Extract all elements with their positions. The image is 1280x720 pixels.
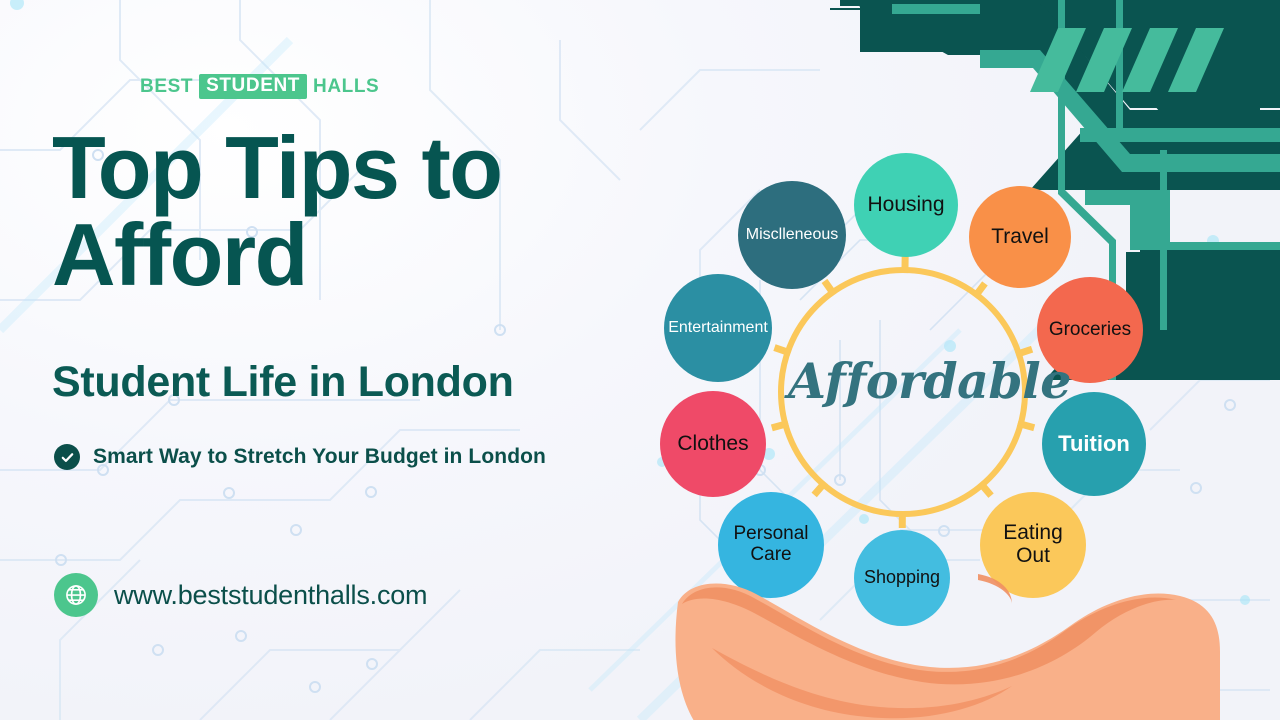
ring-spoke: [1018, 423, 1034, 427]
bubble-label: Eating Out: [984, 522, 1082, 567]
subheadline: Student Life in London: [52, 358, 514, 407]
bubble-label: Shopping: [864, 568, 940, 587]
left-content-column: BEST STUDENT HALLS Top Tips to Afford St…: [0, 0, 660, 720]
website-url[interactable]: www.beststudenthalls.com: [114, 580, 427, 611]
headline-line-2: Afford: [52, 211, 652, 298]
logo-word-halls: HALLS: [313, 76, 379, 98]
ring-spoke: [975, 283, 985, 297]
center-label: Affordable: [788, 352, 1048, 410]
bullet-point: Smart Way to Stretch Your Budget in Lond…: [54, 444, 546, 470]
logo-word-best: BEST: [140, 76, 193, 98]
headline-line-1: Top Tips to: [52, 124, 652, 211]
globe-icon: [54, 573, 98, 617]
bubble-label: Tuition: [1058, 432, 1130, 456]
bubble-label: Clothes: [677, 433, 748, 456]
poster-canvas: BEST STUDENT HALLS Top Tips to Afford St…: [0, 0, 1280, 720]
ring-spoke: [772, 423, 788, 427]
brand-logo[interactable]: BEST STUDENT HALLS: [140, 74, 379, 99]
bubble-misclleneous[interactable]: Misclleneous: [738, 181, 846, 289]
bubble-label: Personal Care: [722, 524, 820, 565]
check-circle-icon: [54, 444, 80, 470]
bubble-clothes[interactable]: Clothes: [660, 391, 766, 497]
affordability-bubble-diagram: HousingTravelGroceriesTuitionEating OutS…: [640, 0, 1280, 720]
bubble-label: Misclleneous: [746, 226, 838, 243]
bubble-eating-out[interactable]: Eating Out: [980, 492, 1086, 598]
logo-word-student: STUDENT: [199, 74, 307, 99]
ring-spoke: [814, 482, 825, 495]
bubble-personal-care[interactable]: Personal Care: [718, 492, 824, 598]
bubble-label: Travel: [991, 226, 1049, 249]
ring-spoke: [824, 281, 834, 295]
bubble-entertainment[interactable]: Entertainment: [664, 274, 772, 382]
bullet-text: Smart Way to Stretch Your Budget in Lond…: [93, 445, 546, 469]
bubble-label: Entertainment: [668, 319, 768, 336]
bubble-travel[interactable]: Travel: [969, 186, 1071, 288]
bubble-label: Housing: [867, 194, 944, 217]
website-row[interactable]: www.beststudenthalls.com: [54, 573, 427, 617]
bubble-housing[interactable]: Housing: [854, 153, 958, 257]
bubble-label: Groceries: [1049, 320, 1131, 341]
ring-spoke: [980, 483, 991, 496]
bubble-shopping[interactable]: Shopping: [854, 530, 950, 626]
page-title: Top Tips to Afford: [52, 124, 652, 298]
